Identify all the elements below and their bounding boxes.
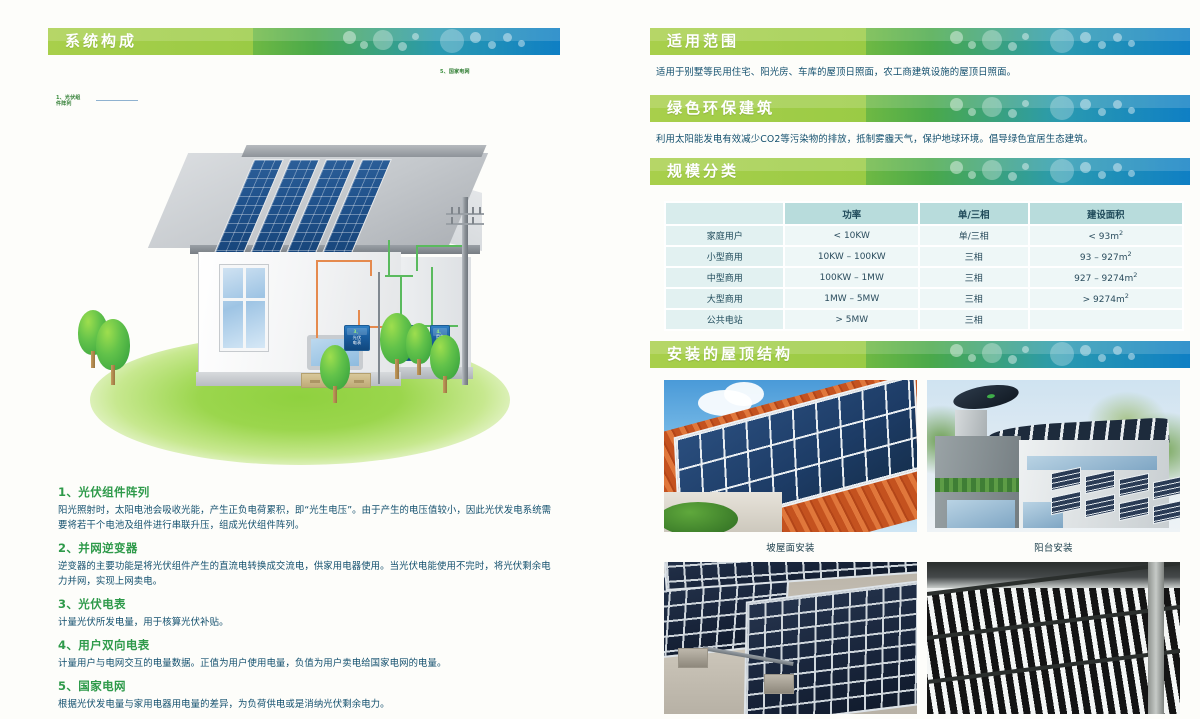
cell-area: 93 – 927m2: [1029, 246, 1183, 267]
callout-number: 5、: [440, 69, 449, 75]
cell-phase: 三相: [919, 246, 1029, 267]
callout-label: 国家电网: [449, 69, 470, 75]
tree-trunk: [417, 359, 421, 375]
item-body: 计量光伏所发电量，用于核算光伏补贴。: [58, 615, 558, 630]
photo-cell: 阳台安装: [927, 380, 1180, 556]
tree: [320, 345, 350, 403]
ballast-block: [678, 648, 708, 668]
table-header-row: 功率 单/三相 建设面积: [665, 202, 1183, 225]
item-heading: 5、国家电网: [58, 678, 558, 694]
cell-phase: 三相: [919, 288, 1029, 309]
section-title: 系统构成: [48, 28, 560, 55]
photo-row: 平屋顶安装 双玻组件阳光房安装: [664, 562, 1180, 719]
photo-caption: 平屋顶安装: [664, 714, 917, 719]
column-header-phase: 单/三相: [919, 202, 1029, 225]
photo-caption: 双玻组件阳光房安装: [927, 714, 1180, 719]
column-header-blank: [665, 202, 784, 225]
pole-insulator: [451, 207, 453, 214]
brochure-page: 系统构成: [0, 0, 1200, 719]
roof-photo-grid: 坡屋面安装: [664, 380, 1180, 719]
table-row: 家庭用户 < 10KW 单/三相 < 93m2: [665, 225, 1183, 246]
green-ivy-band: [935, 478, 1021, 492]
cell-area: [1029, 309, 1183, 330]
photo-image: [927, 562, 1180, 714]
cell-area: 927 – 9274m2: [1029, 267, 1183, 288]
pole-insulator: [479, 207, 481, 214]
tree-crown: [430, 335, 460, 380]
cell-area-value: > 9274m: [1083, 295, 1125, 305]
cell-phase: 三相: [919, 309, 1029, 330]
section-title: 绿色环保建筑: [650, 95, 1190, 122]
column-header-power: 功率: [784, 202, 919, 225]
photo-caption: 阳台安装: [927, 532, 1180, 556]
photo-flat-roof: [664, 562, 917, 714]
window-mullion-vertical: [243, 268, 246, 348]
callout-national-grid: 5、国家电网: [440, 69, 470, 75]
cell-area: < 93m2: [1029, 225, 1183, 246]
tree-trunk: [333, 386, 337, 403]
table-row: 小型商用 10KW – 100KW 三相 93 – 927m2: [665, 246, 1183, 267]
cell-area-sup: 2: [1125, 292, 1129, 300]
item-heading: 4、用户双向电表: [58, 637, 558, 653]
cell-area-value: 93 – 927m: [1080, 253, 1128, 263]
bush: [664, 502, 738, 532]
row-label: 家庭用户: [665, 225, 784, 246]
table-row: 大型商用 1MW – 5MW 三相 > 9274m2: [665, 288, 1183, 309]
tree: [430, 335, 460, 393]
row-label: 小型商用: [665, 246, 784, 267]
cloud: [724, 382, 764, 406]
cell-area-sup: 2: [1128, 250, 1132, 258]
cell-phase: 三相: [919, 267, 1029, 288]
wire-ac-green: [431, 267, 433, 327]
cell-power: > 5MW: [784, 309, 919, 330]
spacer: [650, 148, 1190, 158]
photo-sloped-roof: [664, 380, 917, 532]
wire-dc-orange: [370, 260, 372, 276]
photo-cell: 双玻组件阳光房安装: [927, 562, 1180, 719]
roof-ridge: [241, 145, 486, 157]
green-building-body-text: 利用太阳能发电有效减少CO2等污染物的排放，抵制雾霾天气，保护地球环境。倡导绿色…: [650, 122, 1190, 148]
tree-trunk: [395, 359, 400, 379]
row-label: 大型商用: [665, 288, 784, 309]
pole-insulator: [472, 207, 474, 214]
section-header-green-building: 绿色环保建筑: [650, 95, 1190, 122]
row-label: 公共电站: [665, 309, 784, 330]
system-description-list: 1、光伏组件阵列 阳光照射时，太阳电池会吸收光能，产生正负电荷累积，即“光生电压…: [58, 484, 558, 712]
scale-classification-table: 功率 单/三相 建设面积 家庭用户 < 10KW 单/三相 < 93m2 小型商…: [664, 201, 1184, 331]
photo-caption: 坡屋面安装: [664, 532, 917, 556]
scope-body-text: 适用于别墅等民用住宅、阳光房、车库的屋顶日照面，农工商建筑设施的屋顶日照面。: [650, 55, 1190, 81]
section-header-system-composition: 系统构成: [48, 28, 560, 55]
section-title: 安装的屋顶结构: [650, 341, 1190, 368]
photo-cell: 平屋顶安装: [664, 562, 917, 719]
tree-trunk: [91, 351, 95, 368]
wire-dc-orange: [316, 260, 372, 262]
house-window: [220, 265, 268, 351]
spacer: [650, 331, 1190, 341]
photo-image: [664, 562, 917, 714]
row-label: 中型商用: [665, 267, 784, 288]
window-band: [1027, 456, 1157, 470]
section-header-scope: 适用范围: [650, 28, 1190, 55]
table-row: 中型商用 100KW – 1MW 三相 927 – 9274m2: [665, 267, 1183, 288]
photo-image: [927, 380, 1180, 532]
photo-balcony-install: [927, 380, 1180, 532]
tree: [406, 323, 432, 375]
cell-power: < 10KW: [784, 225, 919, 246]
item-body: 阳光照射时，太阳电池会吸收光能，产生正负电荷累积，即“光生电压”。由于产生的电压…: [58, 503, 558, 533]
item-heading: 1、光伏组件阵列: [58, 484, 558, 500]
photo-row: 坡屋面安装: [664, 380, 1180, 556]
column-header-area: 建设面积: [1029, 202, 1183, 225]
item-heading: 2、并网逆变器: [58, 540, 558, 556]
item-body: 逆变器的主要功能是将光伏组件产生的直流电转换成交流电，供家用电器使用。当光伏电能…: [58, 559, 558, 589]
utility-pole: [462, 197, 468, 385]
tree-crown: [406, 323, 432, 364]
box-gloss: [347, 328, 367, 335]
pole-insulator: [472, 217, 474, 224]
tree-trunk: [111, 365, 116, 385]
left-column: 系统构成: [48, 28, 560, 487]
cell-power: 100KW – 1MW: [784, 267, 919, 288]
item-body: 根据光伏发电量与家用电器用电量的差异，为负荷供电或是消纳光伏剩余电力。: [58, 697, 558, 712]
tree-trunk: [443, 376, 447, 393]
wire-ac-green: [416, 245, 418, 271]
wire-dc-orange: [316, 260, 318, 338]
ballast-block: [764, 674, 794, 694]
cell-area-value: 927 – 9274m: [1074, 274, 1133, 284]
section-header-scale-classification: 规模分类: [650, 158, 1190, 185]
section-title: 规模分类: [650, 158, 1190, 185]
wire-ac-green: [388, 240, 390, 276]
window-band: [947, 500, 1015, 528]
cell-area: > 9274m2: [1029, 288, 1183, 309]
callout-leader-line: [96, 100, 138, 101]
cell-power: 10KW – 100KW: [784, 246, 919, 267]
pole-insulator: [458, 207, 460, 214]
cell-area-sup: 2: [1119, 229, 1123, 237]
section-title: 适用范围: [650, 28, 1190, 55]
pole-insulator: [451, 217, 453, 224]
spacer: [650, 81, 1190, 95]
photo-image: [664, 380, 917, 532]
photo-cell: 坡屋面安装: [664, 380, 917, 556]
window-mullion-horizontal: [223, 298, 265, 301]
photo-sunroom-bifacial: [927, 562, 1180, 714]
callout-pv-array: 1、光伏组 件阵列: [56, 95, 96, 108]
cell-area-sup: 2: [1133, 271, 1137, 279]
wire-ac-green: [416, 245, 464, 247]
section-header-roof-structures: 安装的屋顶结构: [650, 341, 1190, 368]
support-post: [1148, 562, 1164, 714]
tree: [96, 319, 130, 385]
item-body: 计量用户与电网交互的电量数据。正值为用户使用电量，负值为用户卖电给国家电网的电量…: [58, 656, 558, 671]
cell-power: 1MW – 5MW: [784, 288, 919, 309]
cell-area-value: < 93m: [1088, 232, 1119, 242]
right-column: 适用范围 适用于别墅等民用住宅、阳光房、车库的屋顶日照面，农工商建筑设施的屋顶日…: [650, 28, 1190, 719]
tree-crown: [96, 319, 130, 370]
system-diagram-illustration: 3、 光伏 电表 2、 并网 逆变器 4、 用户 双向 电表: [48, 67, 560, 487]
item-heading: 3、光伏电表: [58, 596, 558, 612]
tree-crown: [320, 345, 350, 390]
cell-phase: 单/三相: [919, 225, 1029, 246]
table-row: 公共电站 > 5MW 三相: [665, 309, 1183, 330]
